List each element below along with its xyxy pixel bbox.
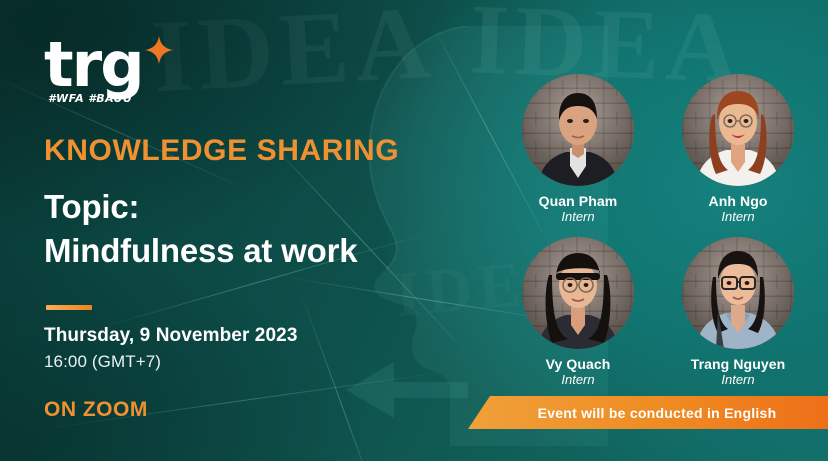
speaker-role: Intern [668,209,808,225]
ribbon-label: Event will be conducted in English [520,405,777,421]
speaker-card[interactable]: Anh Ngo Intern [668,74,808,225]
four-point-star-icon [145,36,173,64]
speaker-name: Quan Pham [508,193,648,209]
event-platform: ON ZOOM [44,398,148,422]
speakers-grid: Quan Pham Intern [508,74,808,387]
speaker-name: Anh Ngo [668,193,808,209]
trg-logo[interactable]: trg #WFA #BAUU [44,36,194,112]
event-date: Thursday, 9 November 2023 [44,325,297,347]
speaker-role: Intern [508,209,648,225]
person-portrait [522,237,634,349]
orange-divider [46,305,92,310]
event-time: 16:00 (GMT+7) [44,352,161,372]
page-headline: KNOWLEDGE SHARING [44,136,399,166]
avatar [682,237,794,349]
avatar [522,74,634,186]
speakers-row-top: Quan Pham Intern [508,74,808,225]
knowledge-sharing-poster: IDEA IDEA IDEA trg #WFA #BAUU KNOWLEDGE … [0,0,828,461]
logo-tagline: #WFA #BAUU [48,92,132,105]
speaker-card[interactable]: Quan Pham Intern [508,74,648,225]
left-content-column: trg #WFA #BAUU KNOWLEDGE SHARING Topic: … [44,0,484,461]
speaker-name: Vy Quach [508,356,648,372]
language-ribbon: Event will be conducted in English [468,396,828,429]
speaker-card[interactable]: Vy Quach Intern [508,237,648,388]
avatar [522,237,634,349]
topic-label: Topic: [44,185,357,229]
person-portrait [682,74,794,186]
speaker-card[interactable]: Trang Nguyen Intern [668,237,808,388]
avatar [682,74,794,186]
person-portrait [682,237,794,349]
topic-block: Topic: Mindfulness at work [44,185,357,273]
speaker-name: Trang Nguyen [668,356,808,372]
person-portrait [522,74,634,186]
logo-wordmark: trg [44,34,143,96]
topic-title: Mindfulness at work [44,229,357,273]
speaker-role: Intern [508,372,648,388]
speaker-role: Intern [668,372,808,388]
speakers-row-bottom: Vy Quach Intern [508,237,808,388]
